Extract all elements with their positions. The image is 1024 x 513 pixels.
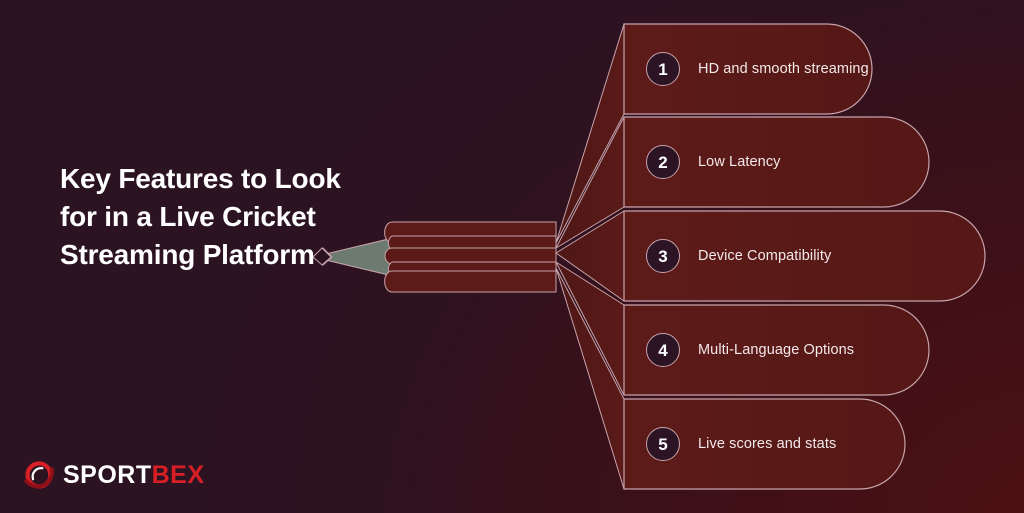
infographic-canvas: Key Features to Look for in a Live Crick… bbox=[0, 0, 1024, 513]
feature-label: HD and smooth streaming bbox=[698, 59, 869, 79]
feature-item-3[interactable]: 3 Device Compatibility bbox=[624, 211, 984, 301]
pencil-band-5 bbox=[385, 271, 556, 292]
brand-word-2: BEX bbox=[152, 461, 205, 489]
sportbex-swoosh-icon bbox=[22, 458, 56, 492]
feature-label: Multi-Language Options bbox=[698, 340, 854, 360]
feature-item-1[interactable]: 1 HD and smooth streaming bbox=[624, 24, 884, 114]
feature-number-badge: 1 bbox=[646, 52, 680, 86]
feature-number-badge: 3 bbox=[646, 239, 680, 273]
feature-number-badge: 5 bbox=[646, 427, 680, 461]
feature-label: Device Compatibility bbox=[698, 246, 831, 266]
feature-number-badge: 2 bbox=[646, 145, 680, 179]
feature-item-5[interactable]: 5 Live scores and stats bbox=[624, 399, 914, 489]
page-title: Key Features to Look for in a Live Crick… bbox=[60, 160, 360, 273]
brand-wordmark: SPORTBEX bbox=[63, 463, 205, 488]
fan-wedges bbox=[556, 24, 624, 489]
feature-label: Live scores and stats bbox=[698, 434, 836, 454]
feature-number-badge: 4 bbox=[646, 333, 680, 367]
pencil-body bbox=[385, 222, 556, 292]
feature-label: Low Latency bbox=[698, 152, 781, 172]
feature-item-2[interactable]: 2 Low Latency bbox=[624, 117, 924, 207]
feature-item-4[interactable]: 4 Multi-Language Options bbox=[624, 305, 934, 395]
brand-logo[interactable]: SPORTBEX bbox=[22, 458, 205, 492]
brand-word-1: SPORT bbox=[63, 461, 152, 489]
